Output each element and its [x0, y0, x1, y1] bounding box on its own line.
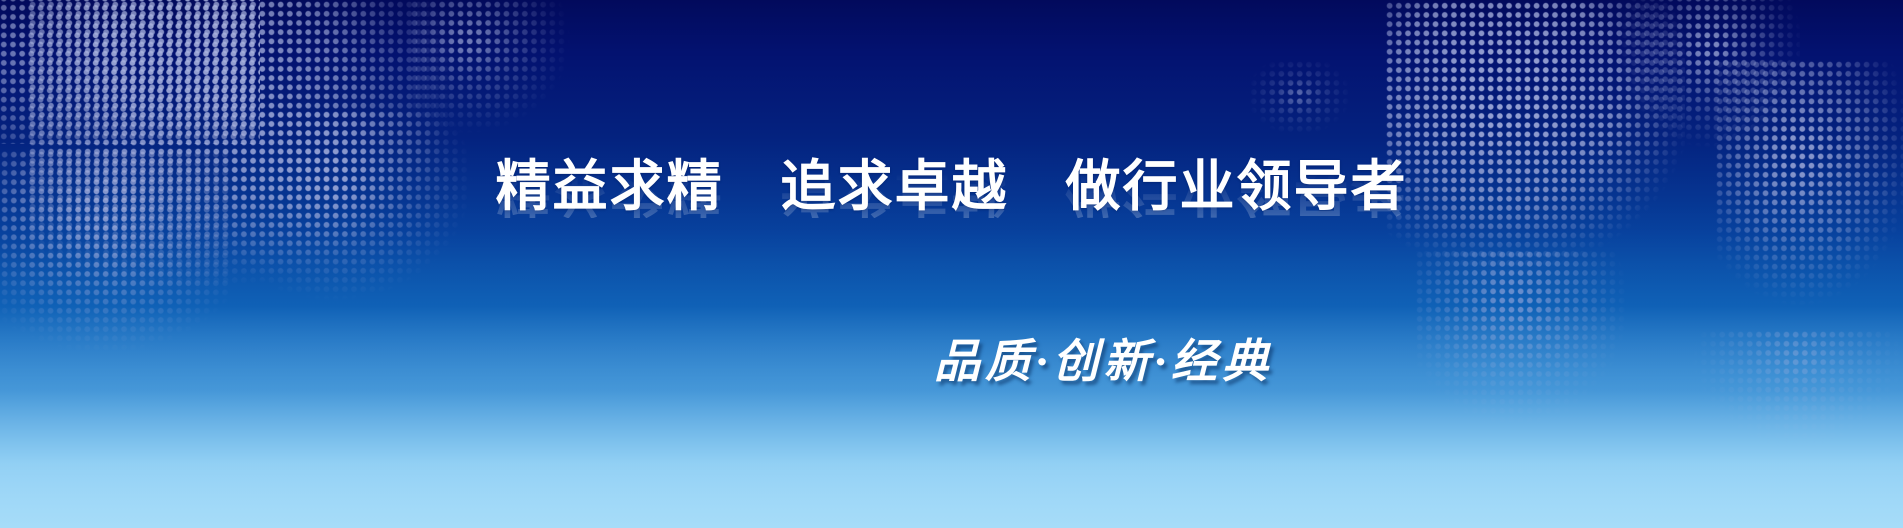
world-map-dot-pattern [0, 0, 1903, 528]
map-dots-greenland [410, 0, 600, 160]
promotional-banner: 精益求精 追求卓越 做行业领导者 精益求精 追求卓越 做行业领导者 品质·创新·… [0, 0, 1903, 528]
map-dots-oceania [1690, 330, 1903, 528]
map-dots-atlantic-islands [1240, 60, 1370, 160]
banner-headline: 精益求精 追求卓越 做行业领导者 [495, 158, 1407, 216]
map-dots-africa [1415, 250, 1635, 528]
map-fade-overlay [0, 0, 1903, 528]
map-dots-east-asia [1715, 60, 1903, 390]
map-dots-pacific-west [0, 150, 230, 450]
map-dots-eurasia [1385, 0, 1685, 322]
map-dots-north-america [28, 0, 448, 300]
banner-tagline: 品质·创新·经典 [934, 325, 1273, 391]
headline-block: 精益求精 追求卓越 做行业领导者 精益求精 追求卓越 做行业领导者 [0, 158, 1903, 276]
map-dots-northern-europe [1620, 0, 1800, 184]
banner-headline-reflection: 精益求精 追求卓越 做行业领导者 [0, 160, 1903, 218]
map-dots-central-america [230, 110, 490, 340]
map-dots-north-america-upper [0, 0, 260, 144]
